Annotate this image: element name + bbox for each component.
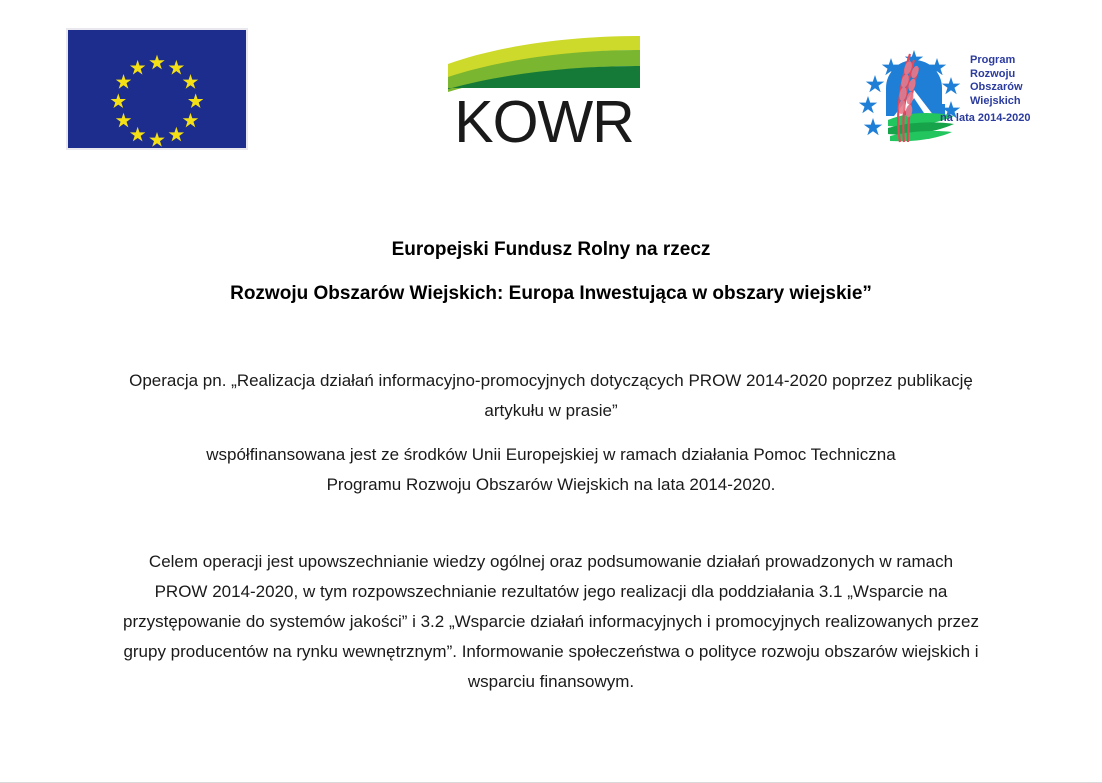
p3-line-2: PROW 2014-2020, w tym rozpowszechnianie …: [71, 577, 1031, 607]
eu-stars-icon: [68, 30, 246, 148]
headline-line-2: Rozwoju Obszarów Wiejskich: Europa Inwes…: [0, 283, 1102, 304]
eu-flag-logo: [66, 28, 248, 150]
p3-line-1: Celem operacji jest upowszechnianie wied…: [71, 547, 1031, 577]
paragraph-operation-name: Operacja pn. „Realizacja działań informa…: [83, 366, 1019, 426]
prow-line-obszarow: Obszarów: [970, 81, 1042, 95]
prow-logo-text: Program Rozwoju Obszarów Wiejskich na la…: [970, 54, 1042, 126]
prow-line-rozwoju: Rozwoju: [970, 68, 1042, 82]
prow-logo: Program Rozwoju Obszarów Wiejskich na la…: [858, 46, 1040, 146]
p2-line-1: współfinansowana jest ze środków Unii Eu…: [101, 440, 1001, 470]
prow-emblem-icon: [858, 46, 970, 146]
p1-line-2: artykułu w prasie”: [83, 396, 1019, 426]
p2-line-2: Programu Rozwoju Obszarów Wiejskich na l…: [101, 470, 1001, 500]
prow-years: na lata 2014-2020: [940, 111, 1042, 126]
prow-line-wiejskich: Wiejskich: [970, 95, 1042, 109]
page-title: Europejski Fundusz Rolny na rzecz Rozwoj…: [0, 239, 1102, 304]
headline-line-1: Europejski Fundusz Rolny na rzecz: [0, 239, 1102, 260]
content-area: Europejski Fundusz Rolny na rzecz Rozwoj…: [0, 175, 1102, 697]
p3-line-5: wsparciu finansowym.: [71, 667, 1031, 697]
kowr-wordmark: KOWR: [448, 92, 640, 152]
paragraph-objective: Celem operacji jest upowszechnianie wied…: [71, 547, 1031, 697]
kowr-green-bands-icon: [448, 36, 640, 96]
paragraph-financing: współfinansowana jest ze środków Unii Eu…: [101, 440, 1001, 500]
p3-line-3: przystępowanie do systemów jakości” i 3.…: [71, 607, 1031, 637]
p1-line-1: Operacja pn. „Realizacja działań informa…: [83, 366, 1019, 396]
kowr-logo: KOWR: [448, 36, 640, 152]
prow-line-program: Program: [970, 54, 1042, 68]
p3-line-4: grupy producentów na rynku wewnętrznym”.…: [71, 637, 1031, 667]
logo-strip: KOWR: [0, 0, 1102, 175]
page-root: { "page": { "background": "#ffffff", "la…: [0, 0, 1102, 783]
